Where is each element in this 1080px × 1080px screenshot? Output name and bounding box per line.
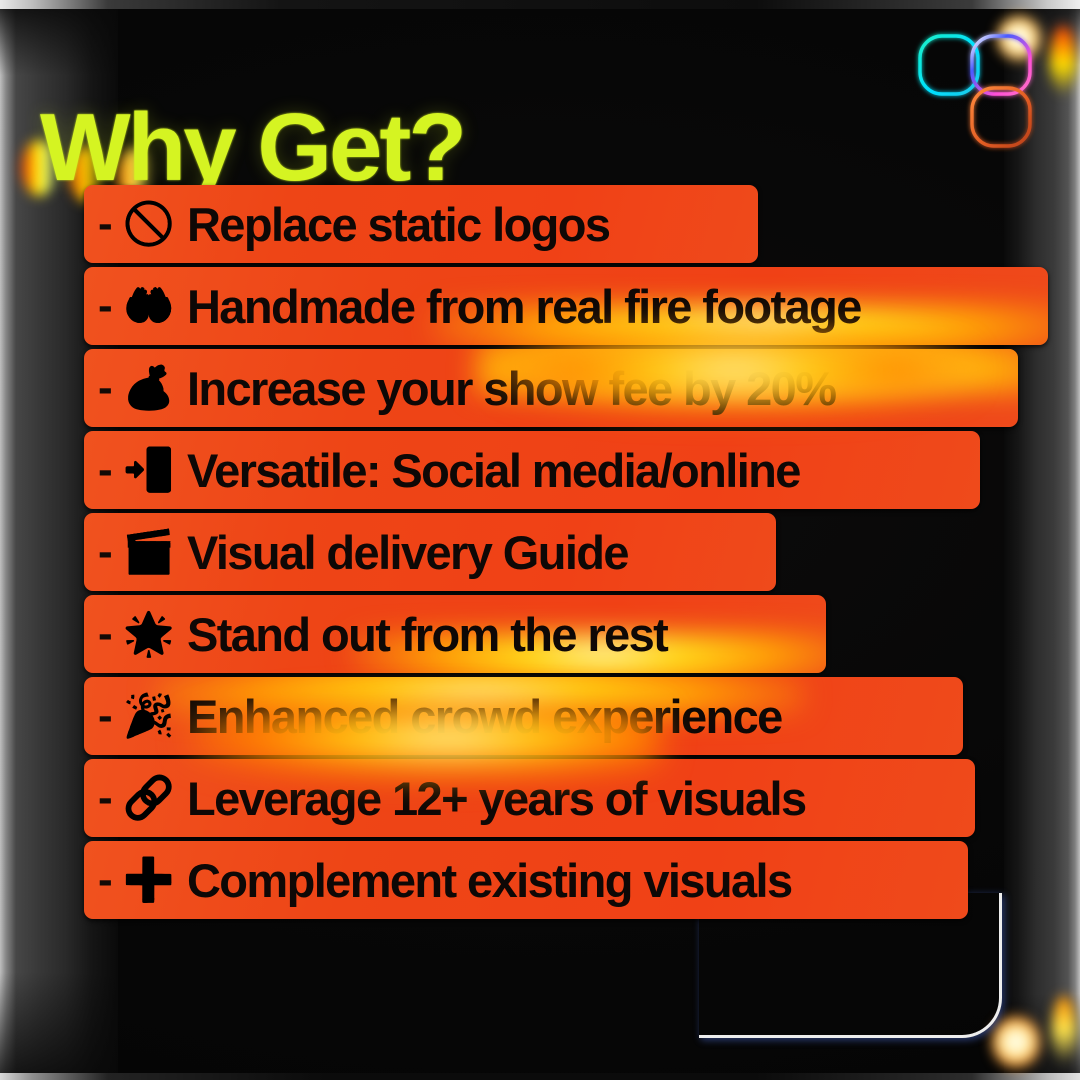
page-title: Why Get? (40, 100, 464, 196)
benefit-row[interactable]: -➕Complement existing visuals (84, 841, 968, 919)
bullet-dash: - (98, 776, 113, 820)
benefit-label: Versatile: Social media/online (187, 447, 800, 494)
benefit-label: Increase your show fee by 20% (187, 365, 835, 412)
party-popper-icon: 🎉 (123, 695, 175, 737)
plus-icon: ➕ (123, 859, 175, 901)
benefit-label: Visual delivery Guide (187, 529, 628, 576)
logo-ring-top-left (920, 36, 978, 94)
brand-logo[interactable] (910, 26, 1050, 166)
bullet-dash: - (98, 612, 113, 656)
benefit-label: Replace static logos (187, 201, 610, 248)
open-hands-icon: 🤲 (123, 285, 175, 327)
prohibited-icon: 🚫 (123, 203, 175, 245)
bullet-dash: - (98, 284, 113, 328)
benefit-row[interactable]: -🌟Stand out from the rest (84, 595, 826, 673)
mobile-arrow-icon: 📲 (123, 449, 175, 491)
bullet-dash: - (98, 858, 113, 902)
benefit-label: Enhanced crowd experience (187, 693, 782, 740)
poster-canvas: Why Get? (0, 0, 1080, 1080)
benefit-row[interactable]: -💰Increase your show fee by 20% (84, 349, 1018, 427)
clapper-board-icon: 🎬 (123, 531, 175, 573)
benefit-row[interactable]: -🔗Leverage 12+ years of visuals (84, 759, 975, 837)
benefit-label: Stand out from the rest (187, 611, 667, 658)
benefit-label: Complement existing visuals (187, 857, 792, 904)
benefit-label: Handmade from real fire footage (187, 283, 861, 330)
bullet-dash: - (98, 694, 113, 738)
bullet-dash: - (98, 448, 113, 492)
top-light-rail (0, 0, 1080, 9)
benefits-list: -🚫Replace static logos-🤲Handmade from re… (84, 185, 1080, 919)
bullet-dash: - (98, 366, 113, 410)
benefit-row[interactable]: -🎬Visual delivery Guide (84, 513, 776, 591)
logo-ring-top-right (972, 36, 1030, 94)
glowing-star-icon: 🌟 (123, 613, 175, 655)
bullet-dash: - (98, 530, 113, 574)
logo-ring-bottom-right (972, 88, 1030, 146)
benefit-row[interactable]: -🎉Enhanced crowd experience (84, 677, 963, 755)
bottom-light-rail (0, 1073, 1080, 1080)
money-bag-icon: 💰 (123, 367, 175, 409)
benefit-row[interactable]: -📲Versatile: Social media/online (84, 431, 980, 509)
link-icon: 🔗 (123, 777, 175, 819)
bullet-dash: - (98, 202, 113, 246)
benefit-label: Leverage 12+ years of visuals (187, 775, 806, 822)
benefit-row[interactable]: -🚫Replace static logos (84, 185, 758, 263)
benefit-row[interactable]: -🤲Handmade from real fire footage (84, 267, 1048, 345)
